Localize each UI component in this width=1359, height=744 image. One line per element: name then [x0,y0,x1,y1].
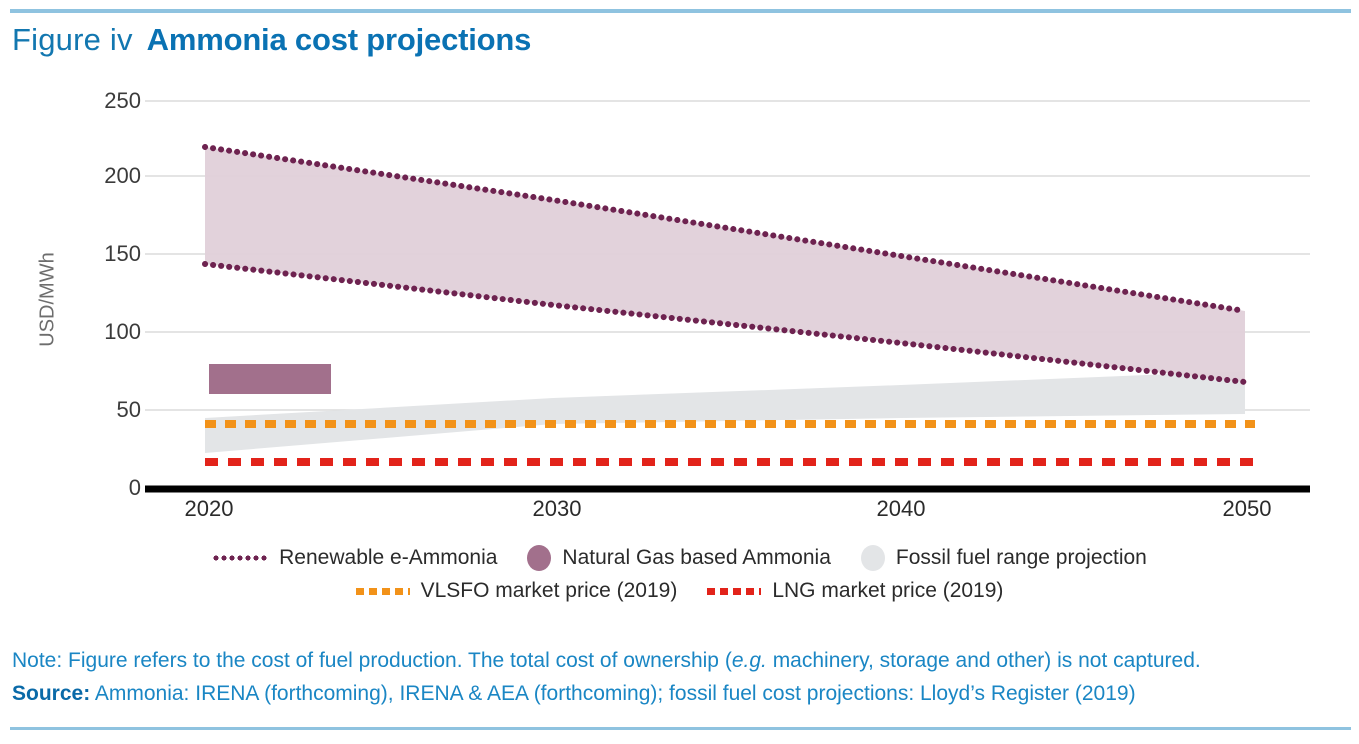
bottom-rule [10,727,1351,730]
legend-row-1: Renewable e-Ammonia Natural Gas based Am… [0,545,1359,571]
legend-label: LNG market price (2019) [772,579,1003,603]
chart-area: USD/MWh 250 200 150 100 50 0 2020 2030 2… [0,88,1359,538]
legend-item-renewable-e-ammonia[interactable]: Renewable e-Ammonia [212,546,497,570]
legend-item-lng-market-price[interactable]: LNG market price (2019) [707,579,1003,603]
source-line: Source: Ammonia: IRENA (forthcoming), IR… [12,678,1352,711]
page-title: Ammonia cost projections [147,22,532,58]
source-label: Source: [12,682,90,705]
natural-gas-ammonia-box [209,364,331,394]
legend-item-natural-gas-ammonia[interactable]: Natural Gas based Ammonia [527,545,830,571]
circle-swatch-icon [527,545,551,571]
figure-label: Figure iv [12,22,133,58]
legend-label: Natural Gas based Ammonia [562,546,830,570]
legend-item-vlsfo-market-price[interactable]: VLSFO market price (2019) [356,579,678,603]
note-prefix: Note: Figure refers to the cost of fuel … [12,649,732,672]
source-text: Ammonia: IRENA (forthcoming), IRENA & AE… [90,682,1135,705]
chart-legend: Renewable e-Ammonia Natural Gas based Am… [0,545,1359,611]
legend-label: Renewable e-Ammonia [279,546,497,570]
legend-label: VLSFO market price (2019) [421,579,678,603]
legend-item-fossil-fuel-range[interactable]: Fossil fuel range projection [861,545,1147,571]
legend-row-2: VLSFO market price (2019) LNG market pri… [0,579,1359,603]
note-italic: e.g. [732,649,767,672]
figure-header: Figure iv Ammonia cost projections [12,22,531,58]
legend-label: Fossil fuel range projection [896,546,1147,570]
renewable-e-ammonia-band [205,147,1245,382]
figure-notes: Note: Figure refers to the cost of fuel … [12,645,1352,710]
circle-grey-swatch-icon [861,545,885,571]
dotted-line-swatch-icon [212,555,268,561]
note-line: Note: Figure refers to the cost of fuel … [12,645,1352,678]
dashed-line-swatch-red-icon [707,588,761,595]
dashed-line-swatch-orange-icon [356,588,410,595]
note-suffix: machinery, storage and other) is not cap… [767,649,1201,672]
top-rule [10,9,1351,13]
fossil-fuel-range-band [205,371,1245,453]
plot-svg [0,88,1359,538]
